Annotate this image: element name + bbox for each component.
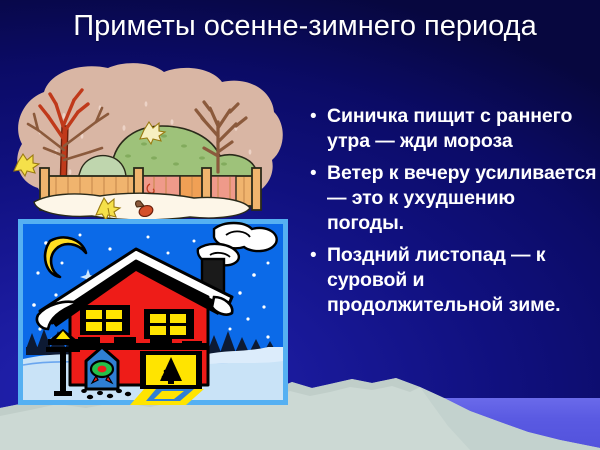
bullet-list: • Синичка пищит с раннего утра — жди мор… xyxy=(305,104,597,325)
winter-night-house-illustration xyxy=(18,219,288,405)
autumn-scene-illustration xyxy=(4,56,292,224)
list-item[interactable]: • Поздний листопад — к суровой и продолж… xyxy=(305,243,597,318)
upper-window-left xyxy=(80,305,130,335)
bullet-text: Ветер к вечеру усиливается — это к ухудш… xyxy=(327,161,597,236)
wreath-center xyxy=(98,366,107,373)
upper-window-right xyxy=(144,309,194,339)
list-item[interactable]: • Синичка пищит с раннего утра — жди мор… xyxy=(305,104,597,154)
bullet-marker-icon: • xyxy=(305,104,327,129)
bullet-marker-icon: • xyxy=(305,161,327,186)
bullet-text: Синичка пищит с раннего утра — жди мороз… xyxy=(327,104,597,154)
bullet-text: Поздний листопад — к суровой и продолжит… xyxy=(327,243,597,318)
slide-canvas: Приметы осенне-зимнего периода • Синичка… xyxy=(0,0,600,450)
list-item[interactable]: • Ветер к вечеру усиливается — это к уху… xyxy=(305,161,597,236)
slide-title: Приметы осенне-зимнего периода xyxy=(55,8,555,45)
bullet-marker-icon: • xyxy=(305,243,327,268)
tree-window xyxy=(140,351,202,389)
